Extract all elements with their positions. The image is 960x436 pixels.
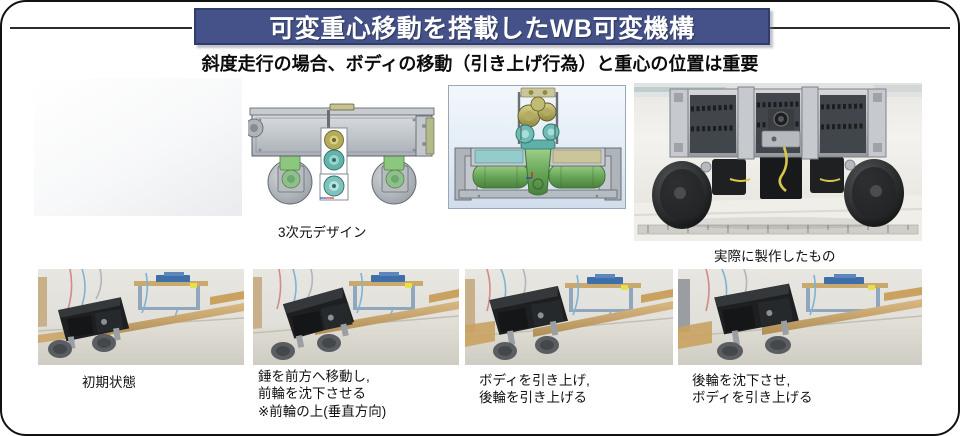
caption-step-3: ボディを引き上げ, 後輪を引き上げる [479, 372, 590, 407]
cad-side-drawing [248, 88, 436, 210]
title-rule-left [10, 27, 192, 29]
title-box: 可変重心移動を搭載したWB可変機構 [194, 8, 770, 45]
cad-front-drawing [449, 86, 626, 209]
sequence-photo-1-content [38, 269, 244, 365]
caption-step-4: 後輪を沈下させ, ボディを引き上げる [692, 372, 813, 407]
caption-cad: 3次元デザイン [278, 224, 367, 241]
title-row: 可変重心移動を搭載したWB可変機構 [2, 6, 958, 44]
cad-isometric-background [34, 78, 242, 216]
sequence-photo-1 [38, 269, 244, 365]
cad-isometric-figure [34, 78, 242, 216]
title-rule-right [768, 27, 950, 29]
sequence-photo-4-content [678, 269, 922, 365]
caption-step-1: 初期状態 [82, 374, 136, 391]
cad-front-figure [448, 85, 626, 209]
sequence-photo-3 [465, 269, 673, 365]
photo-real-robot-content [634, 83, 922, 241]
sequence-photo-2 [253, 269, 459, 365]
caption-real-robot: 実際に製作したもの [714, 248, 836, 265]
sequence-photo-4 [678, 269, 922, 365]
sequence-photo-2-content [253, 269, 459, 365]
page-title: 可変重心移動を搭載したWB可変機構 [269, 9, 694, 45]
sequence-photo-3-content [465, 269, 673, 365]
slide-frame: 可変重心移動を搭載したWB可変機構 斜度走行の場合、ボディの移動（引き上げ行為）… [0, 0, 960, 436]
cad-side-figure [248, 88, 436, 210]
subtitle: 斜度走行の場合、ボディの移動（引き上げ行為）と重心の位置は重要 [2, 50, 958, 76]
photo-real-robot [634, 83, 922, 241]
caption-step-2: 錘を前方へ移動し, 前輪を沈下させる ※前輪の上(垂直方向) [258, 368, 386, 420]
